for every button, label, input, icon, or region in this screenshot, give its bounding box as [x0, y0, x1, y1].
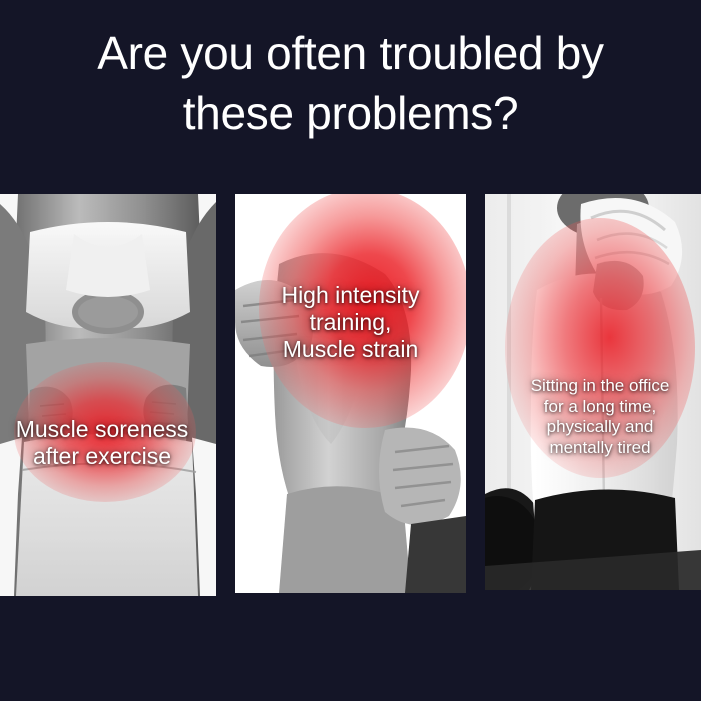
panel-tired: Sitting in the office for a long time, p…	[485, 194, 701, 590]
panel-pain: High intensity training, Muscle strain	[235, 194, 466, 593]
problem-panels: Muscle soreness after exercise	[0, 194, 701, 597]
photo-muscle-soreness	[0, 194, 216, 596]
panel-acid: Muscle soreness after exercise	[0, 194, 216, 596]
caption-acid: Muscle soreness after exercise	[0, 416, 216, 470]
caption-tired: Sitting in the office for a long time, p…	[485, 376, 701, 459]
photo-muscle-strain	[235, 194, 466, 593]
page-headline: Are you often troubled by these problems…	[0, 24, 701, 144]
caption-pain: High intensity training, Muscle strain	[235, 282, 466, 363]
